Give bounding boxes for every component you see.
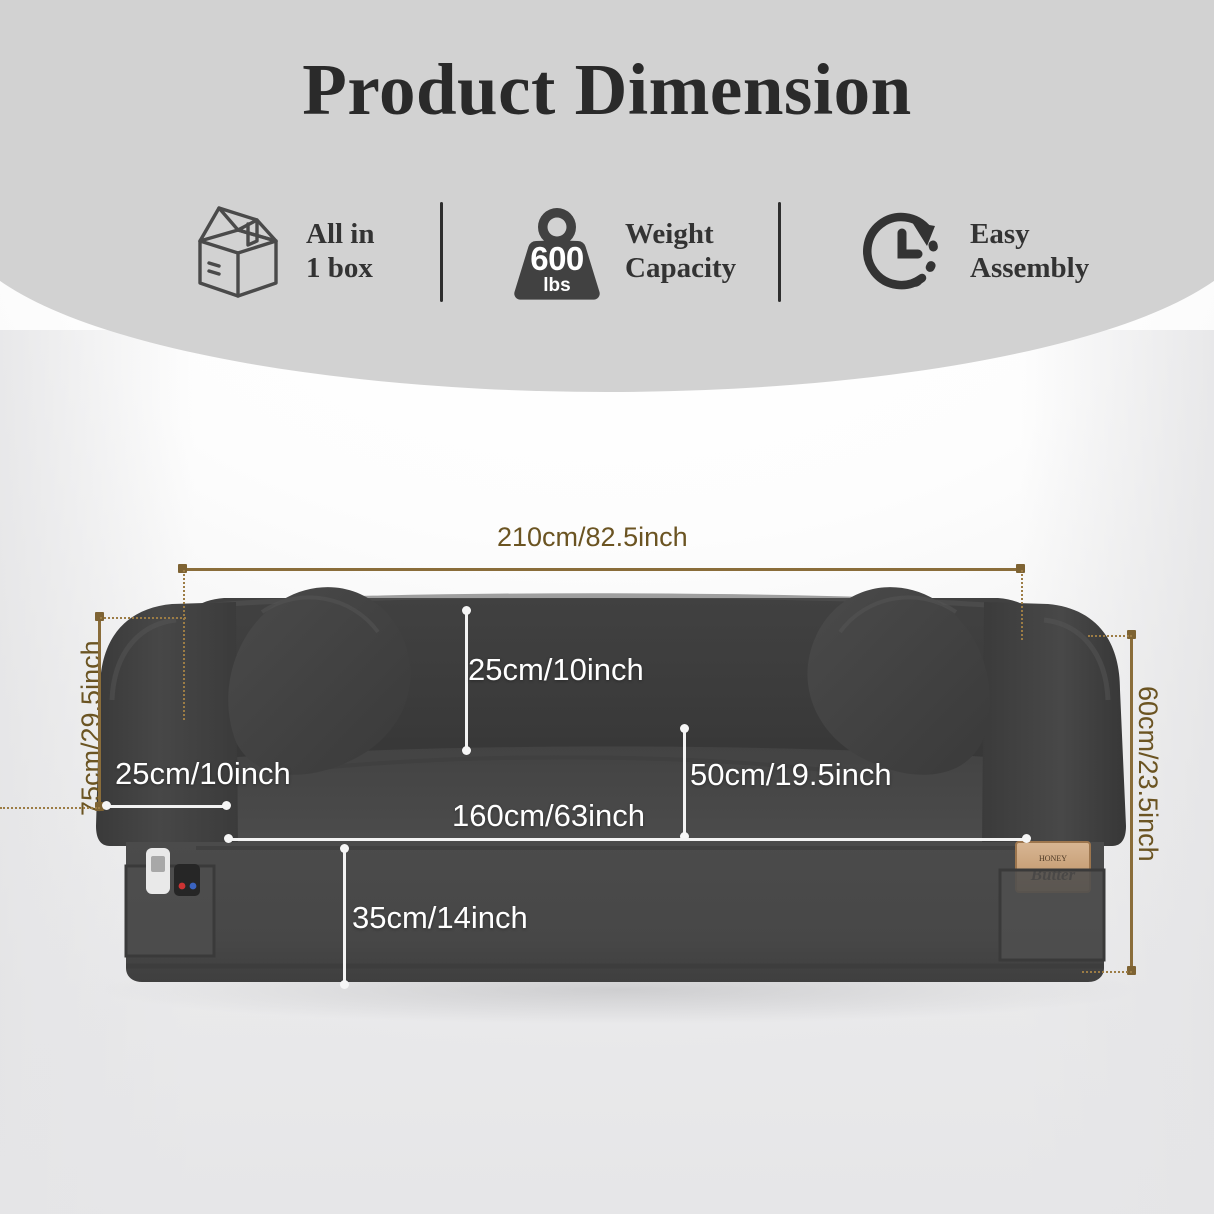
dimension-cap-armrest-right (222, 801, 231, 810)
dimension-line-base-height (343, 848, 346, 986)
dimension-leader-top (100, 617, 186, 619)
dimension-cap-seat-width-left (224, 834, 233, 843)
dimension-cap-armrest-left (102, 801, 111, 810)
dimension-cap-backrest-bottom (462, 746, 471, 755)
dark-remote (174, 864, 200, 896)
book-brand: HONEY (1039, 854, 1067, 863)
dimension-label-overall-depth: 60cm/23.5inch (1132, 686, 1163, 862)
dimension-line-overall-width (182, 568, 1022, 571)
dimension-leader-bottom (0, 807, 100, 809)
dimension-label-overall-height: 75cm/29.5inch (76, 640, 107, 816)
sofa-base (126, 842, 1104, 982)
dimension-label-seat-depth: 50cm/19.5inch (690, 757, 892, 793)
dimension-label-armrest-width: 25cm/10inch (115, 756, 291, 792)
dimension-line-armrest-width (106, 805, 228, 808)
right-side-pocket (1000, 870, 1104, 960)
dimension-label-overall-width: 210cm/82.5inch (497, 522, 688, 553)
dimension-line-overall-depth (1130, 634, 1133, 974)
dimension-leader-right (1021, 570, 1023, 640)
dimension-line-seat-width (228, 838, 1028, 841)
dimension-leader-left (183, 570, 185, 720)
infographic-canvas: Product Dimension (0, 0, 1214, 1214)
dimension-line-overall-height (98, 616, 101, 808)
dimension-cap-backrest-top (462, 606, 471, 615)
dimension-cap-seat-width-right (1022, 834, 1031, 843)
dimension-label-seat-width: 160cm/63inch (452, 798, 645, 834)
left-armrest (96, 602, 238, 846)
dimension-line-seat-depth (683, 728, 686, 838)
dimension-leader-depth-top (1088, 635, 1132, 637)
dimension-cap-base-top (340, 844, 349, 853)
dimension-cap-seat-depth-top (680, 724, 689, 733)
dimension-label-base-height: 35cm/14inch (352, 900, 528, 936)
dimension-leader-depth-bottom (1082, 971, 1132, 973)
dimension-label-backrest-height: 25cm/10inch (468, 652, 644, 688)
dimension-cap-base-bottom (340, 980, 349, 989)
right-armrest (982, 602, 1126, 846)
